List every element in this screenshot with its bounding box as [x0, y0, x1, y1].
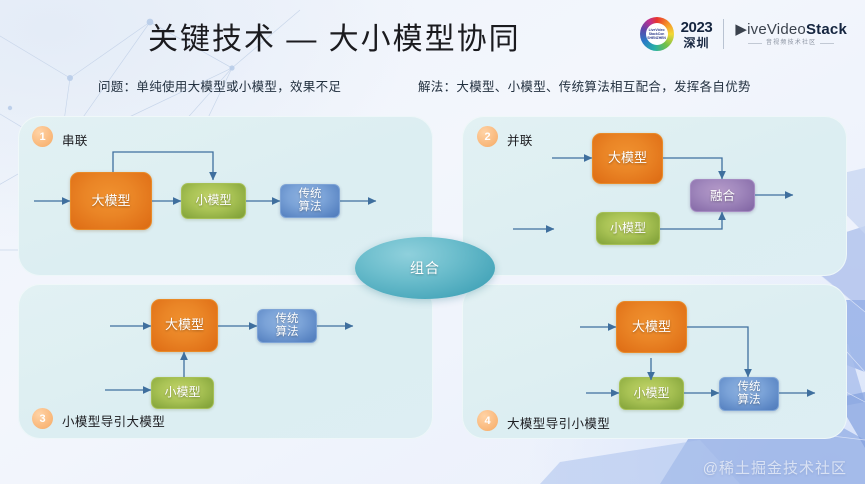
panel-2-fusion-node: 融合 [690, 179, 755, 212]
page-title: 关键技术 — 大小模型协同 [148, 14, 521, 58]
brand-divider [723, 19, 724, 49]
solution-statement: 解法：大模型、小模型、传统算法相互配合，发挥各自优势 [418, 76, 751, 95]
panel-2-label: 并联 [507, 130, 533, 149]
combination-node: 组合 [355, 237, 495, 299]
panel-3-small-model-node: 小模型 [151, 377, 214, 409]
panel-4-traditional-text: 传统算法 [738, 381, 761, 407]
panel-4-big-model-node: 大模型 [616, 301, 687, 353]
panel-2-small-model-node: 小模型 [596, 212, 660, 245]
lvs-play-icon: ▶ [735, 21, 747, 38]
brand-lockup: LiveVideo StackCon SHENZHEN 2023 深圳 ▶ive… [640, 14, 847, 54]
panel-4-badge: 4 [477, 410, 498, 431]
panel-4-traditional-node: 传统算法 [719, 377, 779, 411]
panel-3-big-model-node: 大模型 [151, 299, 218, 352]
panel-1-badge: 1 [32, 126, 53, 147]
combination-label: 组合 [410, 258, 440, 278]
tagline-rule-right [820, 43, 834, 44]
panel-2-big-model-node: 大模型 [592, 133, 663, 184]
livevideostack-wordmark: ▶iveVideoStack [735, 22, 847, 37]
conference-city: 深圳 [683, 37, 709, 49]
panel-3-traditional-text: 传统算法 [276, 313, 299, 339]
panel-3-label: 小模型导引大模型 [62, 411, 165, 430]
ring-line-3: SHENZHEN [647, 36, 666, 40]
panel-1-traditional-node: 传统算法 [280, 184, 340, 218]
panel-3-traditional-node: 传统算法 [257, 309, 317, 343]
conference-ring-logo-icon: LiveVideo StackCon SHENZHEN [640, 17, 674, 51]
panel-1-small-model-node: 小模型 [181, 183, 246, 219]
tagline-text: 音视频技术社区 [766, 40, 816, 46]
watermark: @稀土掘金技术社区 [703, 457, 847, 478]
livevideostack-logo: ▶iveVideoStack 音视频技术社区 [735, 22, 847, 46]
panel-3-badge: 3 [32, 408, 53, 429]
lvs-name-prefix: iveVide [747, 21, 797, 38]
panel-2-badge: 2 [477, 126, 498, 147]
lvs-name-bold: Stack [806, 21, 847, 38]
panel-4-small-model-node: 小模型 [619, 377, 684, 410]
livevideostack-tagline: 音视频技术社区 [748, 40, 834, 46]
conference-year-city: 2023 深圳 [681, 20, 713, 49]
panel-1-big-model-node: 大模型 [70, 172, 152, 230]
conference-year: 2023 [681, 20, 713, 35]
lvs-name-mid: o [797, 21, 806, 38]
problem-statement: 问题：单纯使用大模型或小模型，效果不足 [98, 76, 341, 95]
panel-1-label: 串联 [62, 130, 88, 149]
panel-4-label: 大模型导引小模型 [507, 413, 610, 432]
panel-1-traditional-line1: 传统算法 [299, 188, 322, 214]
slide-canvas: 关键技术 — 大小模型协同 问题：单纯使用大模型或小模型，效果不足 解法：大模型… [0, 0, 865, 484]
tagline-rule-left [748, 43, 762, 44]
